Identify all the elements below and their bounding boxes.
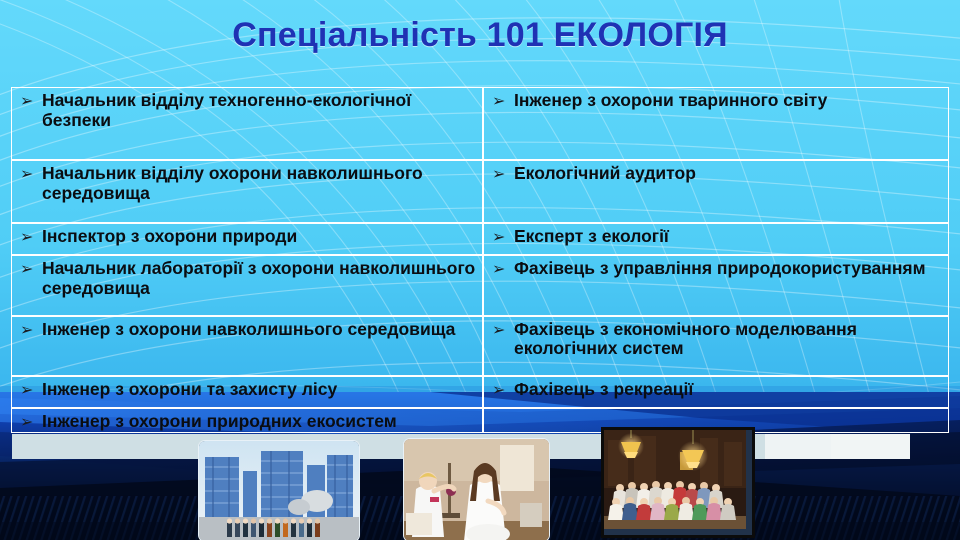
- laboratory-photo: [403, 438, 550, 540]
- arrow-bullet-icon: ➢: [492, 227, 514, 247]
- slide-canvas: Спеціальність 101 ЕКОЛОГІЯ ➢ Начальник в…: [0, 0, 960, 540]
- profession-item[interactable]: ➢ Інженер з охорони тваринного світу: [484, 88, 948, 161]
- professions-column-right: ➢ Інженер з охорони тваринного світу ➢ Е…: [484, 88, 948, 432]
- profession-label: Фахівець з управління природокористуванн…: [514, 259, 942, 279]
- arrow-bullet-icon: ➢: [20, 259, 42, 279]
- arrow-bullet-icon: ➢: [492, 259, 514, 279]
- profession-item[interactable]: ➢ Експерт з екології: [484, 224, 948, 257]
- profession-item[interactable]: ➢ Начальник відділу охорони навколишньог…: [12, 161, 482, 224]
- industrial-plant-photo: [198, 440, 360, 540]
- profession-label: Екологічний аудитор: [514, 164, 942, 184]
- arrow-bullet-icon: ➢: [492, 320, 514, 340]
- slide-title: Спеціальність 101 ЕКОЛОГІЯ: [0, 16, 960, 55]
- arrow-bullet-icon: ➢: [20, 380, 42, 400]
- arrow-bullet-icon: ➢: [492, 380, 514, 400]
- profession-item[interactable]: ➢ Начальник відділу техногенно-екологічн…: [12, 88, 482, 161]
- profession-label: Фахівець з рекреації: [514, 380, 942, 400]
- profession-label: Інженер з охорони навколишнього середови…: [42, 320, 476, 340]
- profession-label: Інженер з охорони тваринного світу: [514, 91, 942, 111]
- banner-stripe-far-right: [765, 434, 831, 459]
- profession-item[interactable]: ➢ Інспектор з охорони природи: [12, 224, 482, 257]
- profession-label: Фахівець з економічного моделювання екол…: [514, 320, 942, 359]
- profession-label: Начальник лабораторії з охорони навколиш…: [42, 259, 476, 298]
- profession-label: Експерт з екології: [514, 227, 942, 247]
- professions-table: ➢ Начальник відділу техногенно-екологічн…: [11, 87, 949, 433]
- profession-label: Інспектор з охорони природи: [42, 227, 476, 247]
- arrow-bullet-icon: ➢: [492, 91, 514, 111]
- arrow-bullet-icon: ➢: [20, 227, 42, 247]
- arrow-bullet-icon: ➢: [492, 164, 514, 184]
- profession-item[interactable]: ➢ Фахівець з економічного моделювання ек…: [484, 317, 948, 378]
- profession-label: Начальник відділу техногенно-екологічної…: [42, 91, 476, 130]
- profession-item[interactable]: ➢ Екологічний аудитор: [484, 161, 948, 224]
- profession-item[interactable]: ➢ Інженер з охорони навколишнього середо…: [12, 317, 482, 378]
- profession-label: Інженер з охорони та захисту лісу: [42, 380, 476, 400]
- profession-label: Начальник відділу охорони навколишнього …: [42, 164, 476, 203]
- arrow-bullet-icon: ➢: [20, 91, 42, 111]
- profession-label: Інженер з охорони природних екосистем: [42, 412, 476, 432]
- profession-item[interactable]: ➢ Начальник лабораторії з охорони навкол…: [12, 256, 482, 317]
- arrow-bullet-icon: ➢: [20, 412, 42, 432]
- arrow-bullet-icon: ➢: [20, 164, 42, 184]
- profession-item[interactable]: ➢ Фахівець з управління природокористува…: [484, 256, 948, 317]
- professions-column-left: ➢ Начальник відділу техногенно-екологічн…: [12, 88, 484, 432]
- profession-item[interactable]: ➢ Інженер з охорони та захисту лісу: [12, 377, 482, 409]
- group-portrait-photo: [601, 427, 755, 538]
- profession-item[interactable]: ➢ Фахівець з рекреації: [484, 377, 948, 409]
- arrow-bullet-icon: ➢: [20, 320, 42, 340]
